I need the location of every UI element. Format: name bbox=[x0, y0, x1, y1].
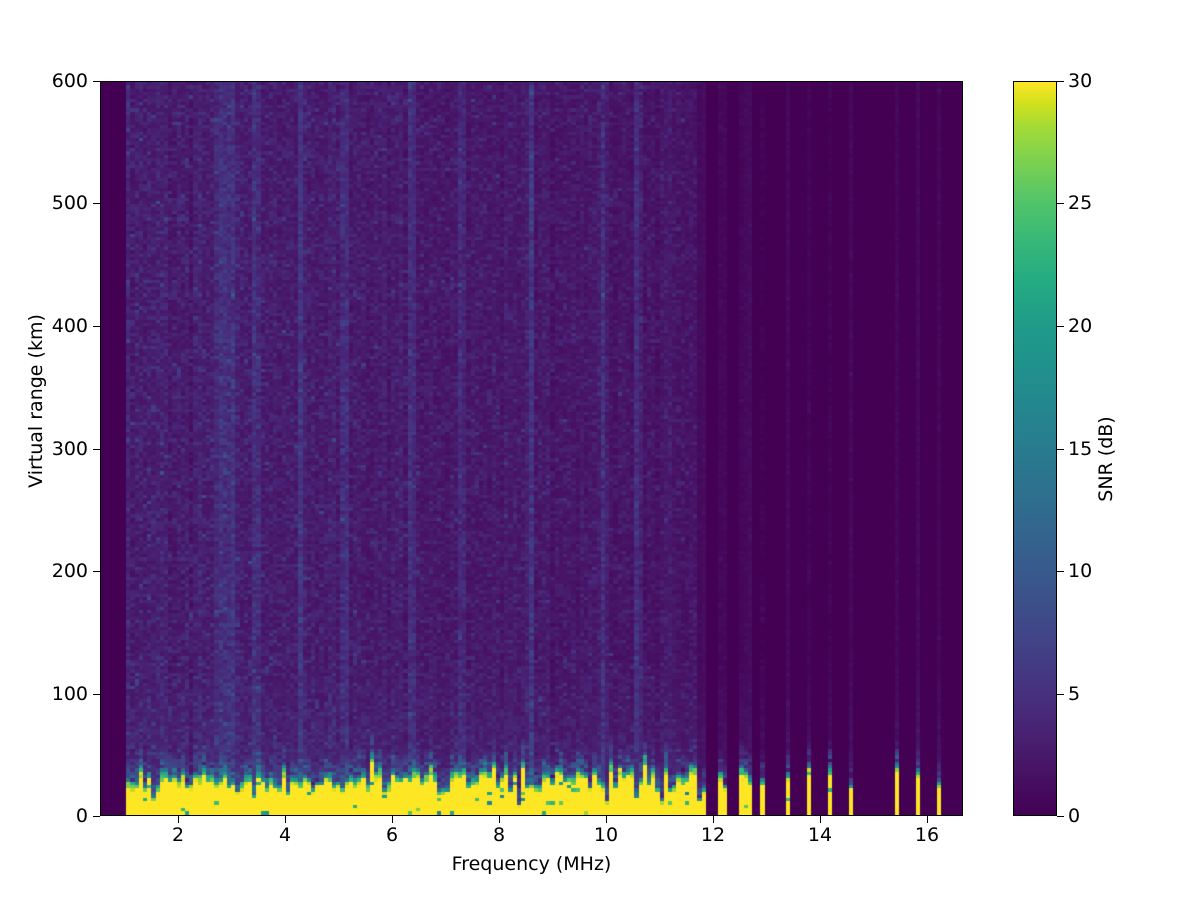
xtick-mark-12 bbox=[713, 816, 714, 823]
colorbar-gradient bbox=[1014, 82, 1056, 815]
colorbar-title: SNR (dB) bbox=[1095, 359, 1117, 559]
colorbar-tick-mark-25 bbox=[1057, 203, 1064, 204]
ytick-mark-400 bbox=[93, 326, 100, 327]
xtick-mark-6 bbox=[392, 816, 393, 823]
colorbar-tick-mark-10 bbox=[1057, 571, 1064, 572]
xtick-label-10: 10 bbox=[576, 826, 636, 845]
ytick-label-300: 300 bbox=[52, 440, 88, 459]
ytick-label-100: 100 bbox=[52, 685, 88, 704]
ytick-label-0: 0 bbox=[76, 807, 88, 826]
ytick-mark-200 bbox=[93, 571, 100, 572]
ytick-label-600: 600 bbox=[52, 72, 88, 91]
colorbar-tick-mark-0 bbox=[1057, 816, 1064, 817]
xtick-mark-16 bbox=[927, 816, 928, 823]
x-axis-title: Frequency (MHz) bbox=[100, 853, 963, 875]
ytick-mark-600 bbox=[93, 81, 100, 82]
xtick-label-14: 14 bbox=[790, 826, 850, 845]
xtick-label-8: 8 bbox=[469, 826, 529, 845]
xtick-mark-4 bbox=[285, 816, 286, 823]
xtick-label-12: 12 bbox=[683, 826, 743, 845]
ytick-mark-0 bbox=[93, 816, 100, 817]
ytick-mark-500 bbox=[93, 203, 100, 204]
colorbar-tick-label-5: 5 bbox=[1068, 685, 1080, 704]
ytick-mark-300 bbox=[93, 449, 100, 450]
colorbar bbox=[1013, 81, 1057, 816]
colorbar-tick-label-20: 20 bbox=[1068, 317, 1092, 336]
ytick-label-500: 500 bbox=[52, 194, 88, 213]
ionogram-heatmap bbox=[101, 82, 962, 815]
ytick-label-200: 200 bbox=[52, 562, 88, 581]
xtick-mark-10 bbox=[606, 816, 607, 823]
xtick-mark-2 bbox=[178, 816, 179, 823]
xtick-label-6: 6 bbox=[362, 826, 422, 845]
colorbar-tick-label-30: 30 bbox=[1068, 72, 1092, 91]
ionogram-plot-area bbox=[100, 81, 963, 816]
colorbar-tick-label-25: 25 bbox=[1068, 194, 1092, 213]
colorbar-tick-mark-20 bbox=[1057, 326, 1064, 327]
colorbar-tick-label-10: 10 bbox=[1068, 562, 1092, 581]
xtick-label-2: 2 bbox=[148, 826, 208, 845]
ytick-mark-100 bbox=[93, 694, 100, 695]
colorbar-tick-mark-30 bbox=[1057, 81, 1064, 82]
xtick-label-4: 4 bbox=[255, 826, 315, 845]
colorbar-tick-mark-15 bbox=[1057, 449, 1064, 450]
colorbar-tick-mark-5 bbox=[1057, 694, 1064, 695]
ytick-label-400: 400 bbox=[52, 317, 88, 336]
colorbar-tick-label-0: 0 bbox=[1068, 807, 1080, 826]
colorbar-tick-label-15: 15 bbox=[1068, 440, 1092, 459]
xtick-mark-14 bbox=[820, 816, 821, 823]
y-axis-title: Virtual range (km) bbox=[25, 271, 47, 531]
xtick-label-16: 16 bbox=[897, 826, 957, 845]
xtick-mark-8 bbox=[499, 816, 500, 823]
